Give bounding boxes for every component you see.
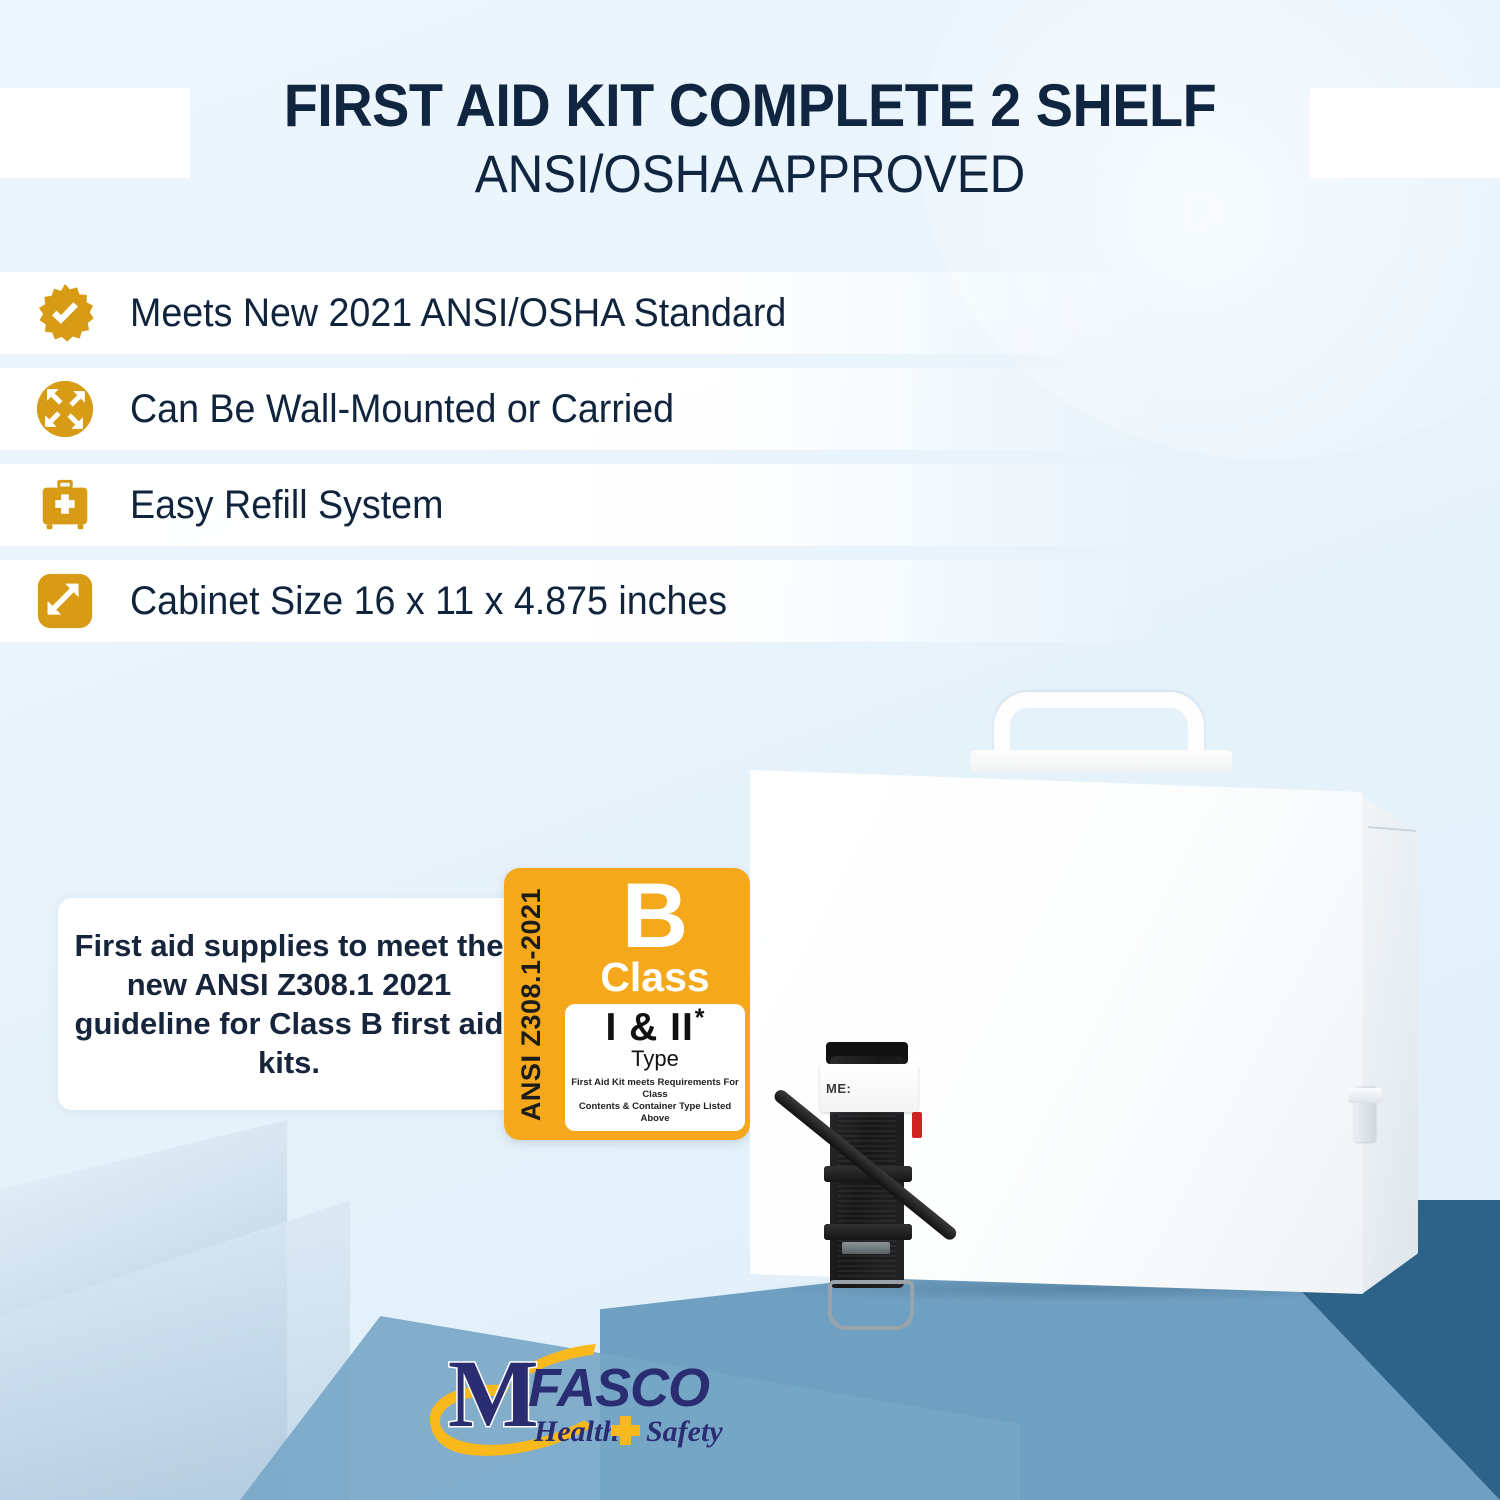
wedge-shape-left-inner — [0, 1200, 350, 1500]
ansi-type-row: I & II * — [605, 1008, 704, 1047]
page-subtitle: ANSI/OSHA APPROVED — [53, 144, 1448, 207]
tourniquet-clip — [842, 1242, 890, 1254]
cabinet-latch-tab — [1348, 1088, 1382, 1103]
ansi-class-letter: B — [622, 874, 688, 959]
tourniquet: ME: — [784, 1028, 964, 1308]
ansi-main: B Class I & II * Type First Aid Kit meet… — [560, 868, 750, 1140]
ansi-class-word: Class — [600, 957, 709, 998]
feature-row: Meets New 2021 ANSI/OSHA Standard — [0, 272, 1160, 354]
ansi-type-word: Type — [631, 1046, 679, 1072]
product-image-first-aid-cabinet: ME: — [742, 688, 1442, 1328]
cabinet-side-panel — [1362, 786, 1418, 1294]
logo-tagline-left: Health — [533, 1415, 619, 1448]
ansi-fine-print: First Aid Kit meets Requirements For Cla… — [569, 1077, 741, 1126]
cabinet-handle-base — [970, 750, 1232, 772]
callout-box: First aid supplies to meet the new ANSI … — [58, 898, 520, 1110]
tourniquet-name-band: ME: — [820, 1064, 918, 1112]
expand-diagonal-icon — [34, 570, 96, 632]
cabinet-handle — [994, 692, 1204, 758]
logo-tagline-right: Safety — [646, 1415, 723, 1448]
ansi-type-value: I & II — [605, 1008, 693, 1047]
feature-label: Meets New 2021 ANSI/OSHA Standard — [130, 291, 786, 336]
feature-row: Cabinet Size 16 x 11 x 4.875 inches — [0, 560, 1160, 642]
tourniquet-name-label: ME: — [820, 1081, 851, 1096]
ansi-class-label: ANSI Z308.1-2021 B Class I & II * Type F… — [504, 868, 750, 1140]
ansi-standard-side: ANSI Z308.1-2021 — [504, 868, 560, 1140]
feature-list: Meets New 2021 ANSI/OSHA Standard Can Be… — [0, 272, 1160, 656]
ansi-type-panel: I & II * Type First Aid Kit meets Requir… — [565, 1004, 745, 1132]
feature-label: Easy Refill System — [130, 483, 443, 528]
logo-m: M — [448, 1340, 539, 1447]
first-aid-case-icon — [34, 474, 96, 536]
ansi-standard-text: ANSI Z308.1-2021 — [517, 887, 548, 1120]
tourniquet-band-lower — [824, 1224, 912, 1240]
mount-carry-arrows-icon — [34, 378, 96, 440]
infographic-canvas: FIRST AID KIT COMPLETE 2 SHELF ANSI/OSHA… — [0, 0, 1500, 1500]
tourniquet-red-tab — [912, 1112, 922, 1138]
feature-row: Can Be Wall-Mounted or Carried — [0, 368, 1160, 450]
callout-text: First aid supplies to meet the new ANSI … — [58, 926, 520, 1082]
feature-label: Can Be Wall-Mounted or Carried — [130, 387, 674, 432]
feature-row: Easy Refill System — [0, 464, 1160, 546]
feature-label: Cabinet Size 16 x 11 x 4.875 inches — [130, 579, 727, 624]
logo-brand: FASCO — [528, 1358, 710, 1418]
badge-check-icon — [34, 282, 96, 344]
page-title: FIRST AID KIT COMPLETE 2 SHELF — [53, 74, 1448, 138]
header: FIRST AID KIT COMPLETE 2 SHELF ANSI/OSHA… — [0, 74, 1500, 206]
ansi-type-asterisk: * — [695, 1006, 705, 1031]
mfasco-logo: M FASCO Health Safety — [424, 1322, 754, 1458]
tourniquet-d-ring — [828, 1280, 914, 1330]
